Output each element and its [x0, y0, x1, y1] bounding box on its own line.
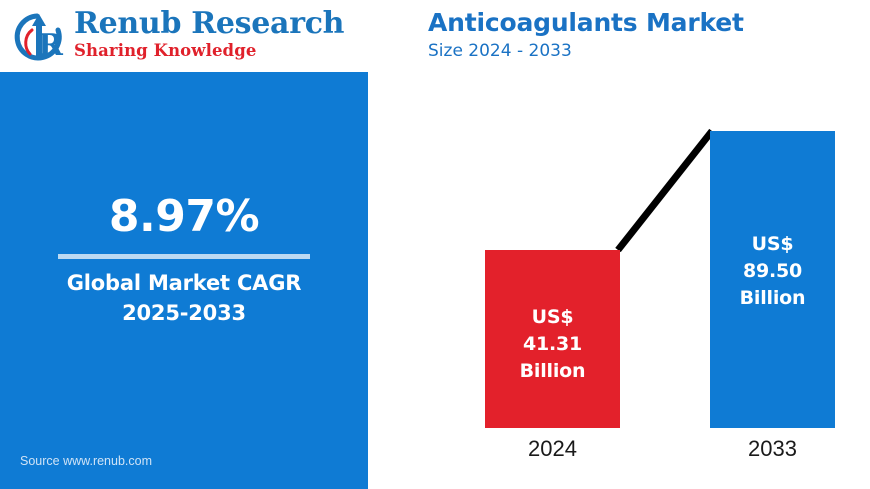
page-title-block: Anticoagulants Market Size 2024 - 2033	[428, 8, 858, 62]
page-subtitle: Size 2024 - 2033	[428, 40, 858, 62]
bar-chart: US$ 41.31 Billion US$ 89.50 Billion 2024…	[420, 90, 870, 489]
infographic-canvas: R Renub Research Sharing Knowledge Antic…	[0, 0, 870, 489]
bar-2033-value-line2: 89.50	[710, 258, 835, 285]
bar-2024-value-line3: Billion	[485, 358, 620, 385]
page-title: Anticoagulants Market	[428, 8, 858, 38]
bar-2024-value: US$ 41.31 Billion	[485, 304, 620, 385]
cagr-content: 8.97% Global Market CAGR 2025-2033	[0, 192, 368, 327]
renub-r-arrow-logo-icon: R	[12, 10, 72, 66]
cagr-panel: 8.97% Global Market CAGR 2025-2033 Sourc…	[0, 72, 368, 489]
bar-2033: US$ 89.50 Billion	[710, 131, 835, 428]
axis-label-2033: 2033	[710, 434, 835, 464]
brand-wordmark: Renub Research Sharing Knowledge	[74, 8, 310, 60]
svg-text:R: R	[38, 28, 64, 63]
cagr-value: 8.97%	[0, 192, 368, 242]
source-text: Source www.renub.com	[20, 453, 152, 469]
brand-logo: R Renub Research Sharing Knowledge	[12, 6, 312, 70]
cagr-divider	[58, 254, 310, 259]
bar-2024-value-line1: US$	[485, 304, 620, 331]
bar-2024-value-line2: 41.31	[485, 331, 620, 358]
cagr-period: 2025-2033	[0, 299, 368, 327]
bar-2033-value: US$ 89.50 Billion	[710, 231, 835, 312]
bar-2033-value-line1: US$	[710, 231, 835, 258]
bar-2024: US$ 41.31 Billion	[485, 250, 620, 428]
bar-2033-value-line3: Billion	[710, 285, 835, 312]
brand-tagline: Sharing Knowledge	[74, 41, 310, 60]
cagr-label: Global Market CAGR	[0, 269, 368, 297]
brand-name: Renub Research	[74, 8, 310, 40]
axis-label-2024: 2024	[485, 434, 620, 464]
